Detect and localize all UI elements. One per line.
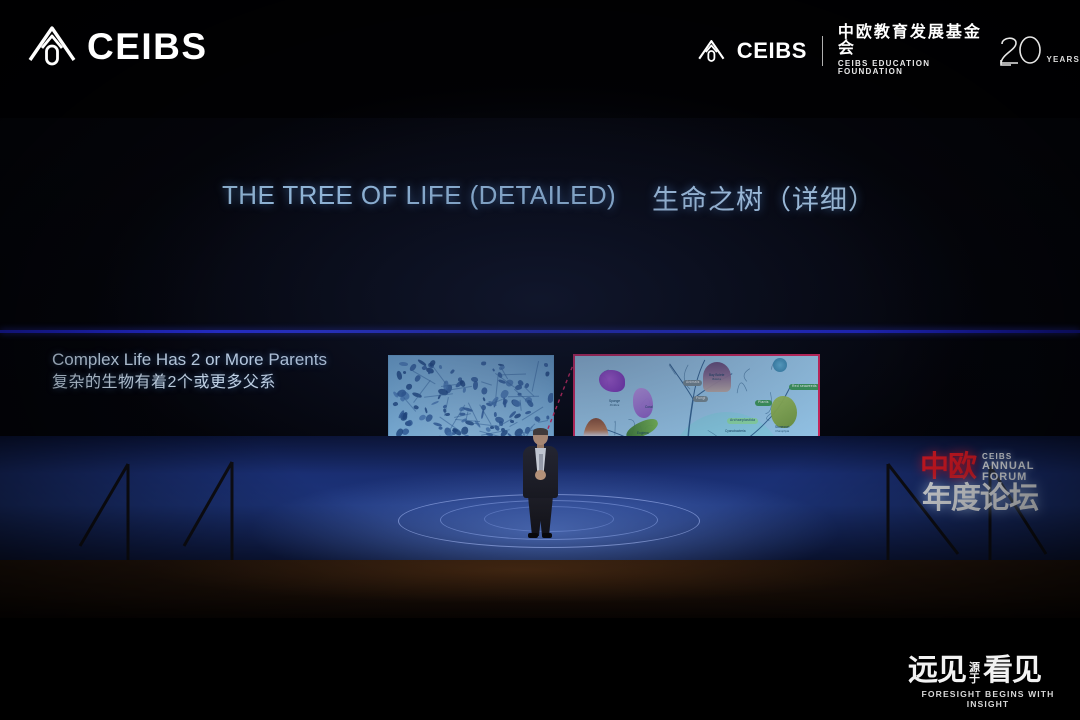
forum-banner: 中欧 CEIBS ANNUAL FORUM 年度论坛 [920,452,1048,524]
organism-silhouette [481,387,487,395]
clade-chip: Plants [755,400,772,406]
watermark-cn-mid-bottom: 于 [969,673,980,684]
slide-subtitle-block: Complex Life Has 2 or More Parents 复杂的生物… [52,350,327,392]
foundation-name-english: CEIBS EDUCATION FOUNDATION [838,60,984,76]
broadcast-watermark: 远见 源 于 看见 FORESIGHT BEGINS WITH INSIGHT [908,650,1068,706]
tree-twig [669,365,675,374]
speaker-shoe-right [542,533,552,538]
stage-scene: THE TREE OF LIFE (DETAILED) 生命之树（详细） Com… [0,0,1080,720]
sponge-art [599,370,625,392]
foundation-name-block: 中欧教育发展基金会 CEIBS EDUCATION FOUNDATION [838,25,984,76]
watermark-cn-middle: 源 于 [969,662,980,684]
organism-silhouette [545,371,549,376]
clade-chip: Fungi [693,396,708,402]
watermark-chinese-row: 远见 源 于 看见 [908,650,1068,686]
anniversary-20-years-logo: YEARS [999,34,1080,68]
ceibs-wordmark-right: CEIBS [737,40,807,62]
ceibs-house-icon [26,22,78,70]
slide-divider-rule [0,330,1080,333]
slide-title-english: THE TREE OF LIFE (DETAILED) [222,180,616,211]
organism-caption: Coral [645,406,653,410]
organism-caption: SpongePorifera [609,400,620,407]
organism-caption: Bay BoleteBoletus [709,374,724,381]
anniversary-years-label: YEARS [1046,55,1080,64]
projection-screen: THE TREE OF LIFE (DETAILED) 生命之树（详细） Com… [0,118,1080,438]
logo-ceibs-foundation: CEIBS 中欧教育发展基金会 CEIBS EDUCATION FOUNDATI… [697,25,1080,76]
clade-chip: Archaeplastida [727,418,758,424]
slide-title-chinese: 生命之树（详细） [652,178,876,217]
watermark-english-tagline: FORESIGHT BEGINS WITH INSIGHT [908,689,1068,709]
logo-ceibs-left: CEIBS [26,22,208,70]
tree-twig [737,383,747,393]
watermark-cn-b: 看见 [983,656,1041,686]
speaker-hands [535,470,546,480]
speaker-shoe-left [528,533,538,538]
tree-twig [744,369,750,382]
clade-chip: Red seaweeds [789,384,820,390]
foundation-name-chinese: 中欧教育发展基金会 [838,25,984,57]
logo-divider [822,36,823,66]
organism-silhouette [406,383,412,389]
slide-subtitle-english: Complex Life Has 2 or More Parents [52,350,327,371]
stonewort-art [771,396,797,428]
stage-front-glow [0,560,1080,618]
organism-caption: Cyanobacteria [725,430,746,434]
slide-title-row: THE TREE OF LIFE (DETAILED) 生命之树（详细） [0,180,1080,226]
forum-banner-cn-line1: 中欧 [920,452,976,481]
speaker-hair [533,428,548,435]
organism-caption: StonewortCharophyta [775,426,789,433]
forum-banner-english: CEIBS ANNUAL FORUM [982,453,1034,484]
anniversary-20-icon [999,34,1043,68]
ceibs-wordmark-left: CEIBS [87,28,208,65]
speaker-legs [528,496,553,536]
watermark-cn-a: 远见 [908,656,966,686]
clade-chip: Animals [683,380,702,386]
organism-silhouette [399,362,408,366]
organism-silhouette [544,363,548,367]
diatom-art [773,358,787,372]
ceibs-house-icon [697,36,726,66]
speaker-figure [516,428,564,540]
forum-banner-cn-line2: 年度论坛 [922,484,1038,514]
slide-subtitle-chinese: 复杂的生物有着2个或更多父系 [52,373,327,393]
